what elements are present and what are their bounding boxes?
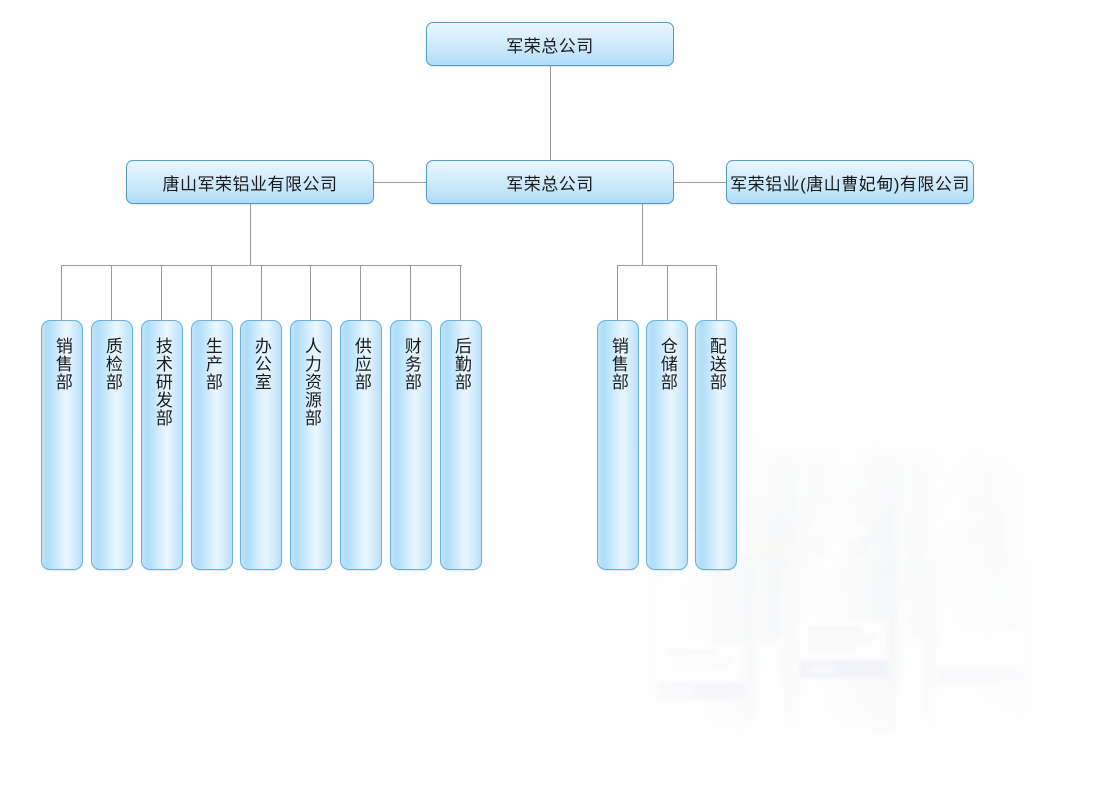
background-photo-containers xyxy=(620,430,1090,760)
dept-node-logistics[interactable]: 后勤部 xyxy=(440,320,482,570)
dept-node-technology-rnd[interactable]: 技术研发部 xyxy=(141,320,183,570)
dept-label: 质检部 xyxy=(103,337,121,569)
connector-dept-stem xyxy=(111,265,112,321)
dept-node-quality-inspection[interactable]: 质检部 xyxy=(91,320,133,570)
org-node-head-office[interactable]: 军荣总公司 xyxy=(426,160,674,204)
connector-dept-stem xyxy=(410,265,411,321)
dept-node-human-resources[interactable]: 人力资源部 xyxy=(290,320,332,570)
connector-head-to-tangshan xyxy=(374,182,426,183)
watermark-fade-overlay xyxy=(620,430,1090,760)
connector-dept-stem xyxy=(360,265,361,321)
dept-node-distribution[interactable]: 配送部 xyxy=(695,320,737,570)
org-chart-canvas: 军荣总公司 唐山军荣铝业有限公司 军荣总公司 军荣铝业(唐山曹妃甸)有限公司 销… xyxy=(0,0,1100,800)
org-node-tangshan[interactable]: 唐山军荣铝业有限公司 xyxy=(126,160,374,204)
dept-label: 生产部 xyxy=(203,337,221,569)
dept-label: 供应部 xyxy=(352,337,370,569)
org-node-root[interactable]: 军荣总公司 xyxy=(426,22,674,66)
connector-dept-stem xyxy=(261,265,262,321)
dept-label: 配送部 xyxy=(707,337,725,569)
connector-dept-stem xyxy=(161,265,162,321)
dept-node-production[interactable]: 生产部 xyxy=(191,320,233,570)
dept-node-office[interactable]: 办公室 xyxy=(240,320,282,570)
connector-dept-stem xyxy=(716,265,717,321)
connector-dept-stem xyxy=(61,265,62,321)
org-node-label: 军荣总公司 xyxy=(506,170,594,195)
dept-label: 销售部 xyxy=(609,337,627,569)
connector-head-to-caofeidian xyxy=(674,182,726,183)
org-node-label: 军荣铝业(唐山曹妃甸)有限公司 xyxy=(730,170,970,195)
dept-node-finance[interactable]: 财务部 xyxy=(390,320,432,570)
connector-dept-stem xyxy=(460,265,461,321)
org-node-label: 军荣总公司 xyxy=(506,32,594,57)
connector-dept-stem xyxy=(211,265,212,321)
org-node-caofeidian[interactable]: 军荣铝业(唐山曹妃甸)有限公司 xyxy=(726,160,974,204)
dept-node-sales-left[interactable]: 销售部 xyxy=(41,320,83,570)
dept-label: 仓储部 xyxy=(658,337,676,569)
dept-label: 技术研发部 xyxy=(153,337,171,569)
dept-label: 办公室 xyxy=(252,337,270,569)
dept-label: 人力资源部 xyxy=(302,337,320,569)
dept-node-supply[interactable]: 供应部 xyxy=(340,320,382,570)
connector-left-trunk xyxy=(250,204,251,266)
connector-dept-stem xyxy=(310,265,311,321)
connector-dept-stem xyxy=(667,265,668,321)
org-node-label: 唐山军荣铝业有限公司 xyxy=(163,170,338,195)
containers-illustration xyxy=(620,430,1090,760)
dept-label: 财务部 xyxy=(402,337,420,569)
dept-node-sales-right[interactable]: 销售部 xyxy=(597,320,639,570)
dept-label: 销售部 xyxy=(53,337,71,569)
connector-right-trunk xyxy=(642,204,643,266)
dept-node-warehouse[interactable]: 仓储部 xyxy=(646,320,688,570)
connector-dept-stem xyxy=(617,265,618,321)
dept-label: 后勤部 xyxy=(452,337,470,569)
connector-root-to-head xyxy=(550,66,551,160)
